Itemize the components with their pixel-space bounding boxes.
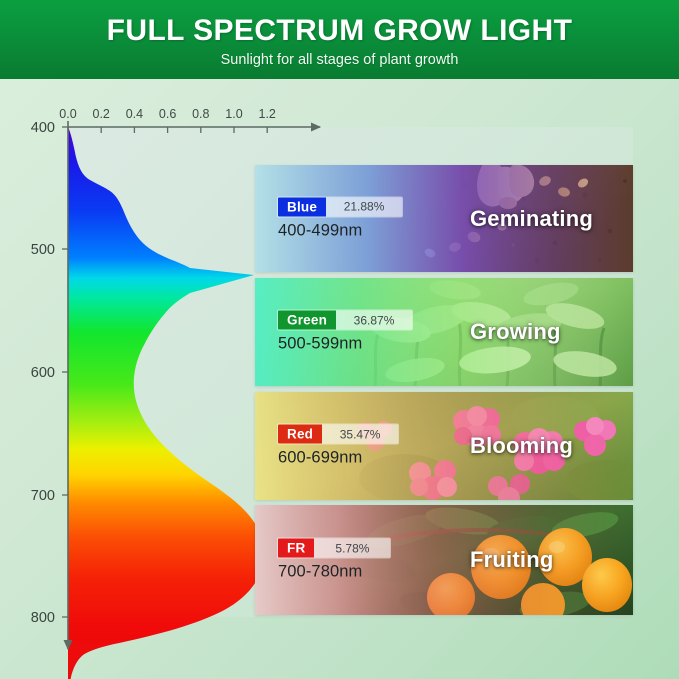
band-name-green: Green [278, 311, 336, 330]
band-name-fr: FR [278, 539, 314, 558]
x-axis-tick-labels: 0.0 0.2 0.4 0.6 0.8 1.0 1.2 [59, 107, 276, 121]
y-tick-label: 800 [31, 610, 55, 626]
band-range-blue: 400-499nm [278, 221, 402, 240]
band-info-fr: FR 5.78% 700-780nm [278, 539, 390, 582]
stage-panel-geminating[interactable]: Blue 21.88% 400-499nm Geminating [255, 165, 633, 272]
page-title: FULL SPECTRUM GROW LIGHT [0, 13, 679, 49]
y-axis-ticks [62, 127, 68, 617]
band-name-red: Red [278, 425, 322, 444]
y-tick-label: 400 [31, 120, 55, 136]
page-subtitle: Sunlight for all stages of plant growth [0, 50, 679, 70]
y-tick-label: 700 [31, 488, 55, 504]
y-axis-tick-labels: 400 500 600 700 800 [31, 120, 55, 626]
band-info-green: Green 36.87% 500-599nm [278, 311, 412, 354]
y-tick-label: 600 [31, 365, 55, 381]
band-info-blue: Blue 21.88% 400-499nm [278, 197, 402, 240]
band-badge-green: Green 36.87% [278, 311, 412, 330]
band-badge-red: Red 35.47% [278, 425, 398, 444]
stage-label-growing: Growing [470, 319, 561, 345]
band-range-green: 500-599nm [278, 335, 412, 354]
x-tick-label: 0.2 [93, 107, 110, 121]
stage-panel-growing[interactable]: Green 36.87% 500-599nm Growing [255, 278, 633, 386]
band-range-red: 600-699nm [278, 449, 398, 468]
stage-label-blooming: Blooming [470, 433, 573, 459]
band-range-fr: 700-780nm [278, 563, 390, 582]
y-tick-label: 500 [31, 242, 55, 258]
spectrum-chart: 0.0 0.2 0.4 0.6 0.8 1.0 1.2 400 500 600 … [0, 79, 679, 679]
x-tick-label: 1.2 [259, 107, 276, 121]
band-percent-red: 35.47% [322, 425, 398, 444]
stage-label-geminating: Geminating [470, 206, 593, 232]
stage-panel-blooming[interactable]: Red 35.47% 600-699nm Blooming [255, 392, 633, 500]
band-info-red: Red 35.47% 600-699nm [278, 425, 398, 468]
x-tick-label: 0.6 [159, 107, 176, 121]
band-percent-green: 36.87% [336, 311, 412, 330]
band-percent-fr: 5.78% [314, 539, 390, 558]
x-tick-label: 0.8 [192, 107, 209, 121]
band-badge-fr: FR 5.78% [278, 539, 390, 558]
infographic-page: FULL SPECTRUM GROW LIGHT Sunlight for al… [0, 0, 679, 679]
x-tick-label: 0.4 [126, 107, 143, 121]
x-tick-label: 1.0 [225, 107, 242, 121]
stage-panel-fruiting[interactable]: FR 5.78% 700-780nm Fruiting [255, 505, 633, 615]
x-tick-label: 0.0 [59, 107, 76, 121]
band-name-blue: Blue [278, 197, 326, 216]
header-banner: FULL SPECTRUM GROW LIGHT Sunlight for al… [0, 0, 679, 79]
band-percent-blue: 21.88% [326, 197, 402, 216]
stage-label-fruiting: Fruiting [470, 547, 553, 573]
band-badge-blue: Blue 21.88% [278, 197, 402, 216]
